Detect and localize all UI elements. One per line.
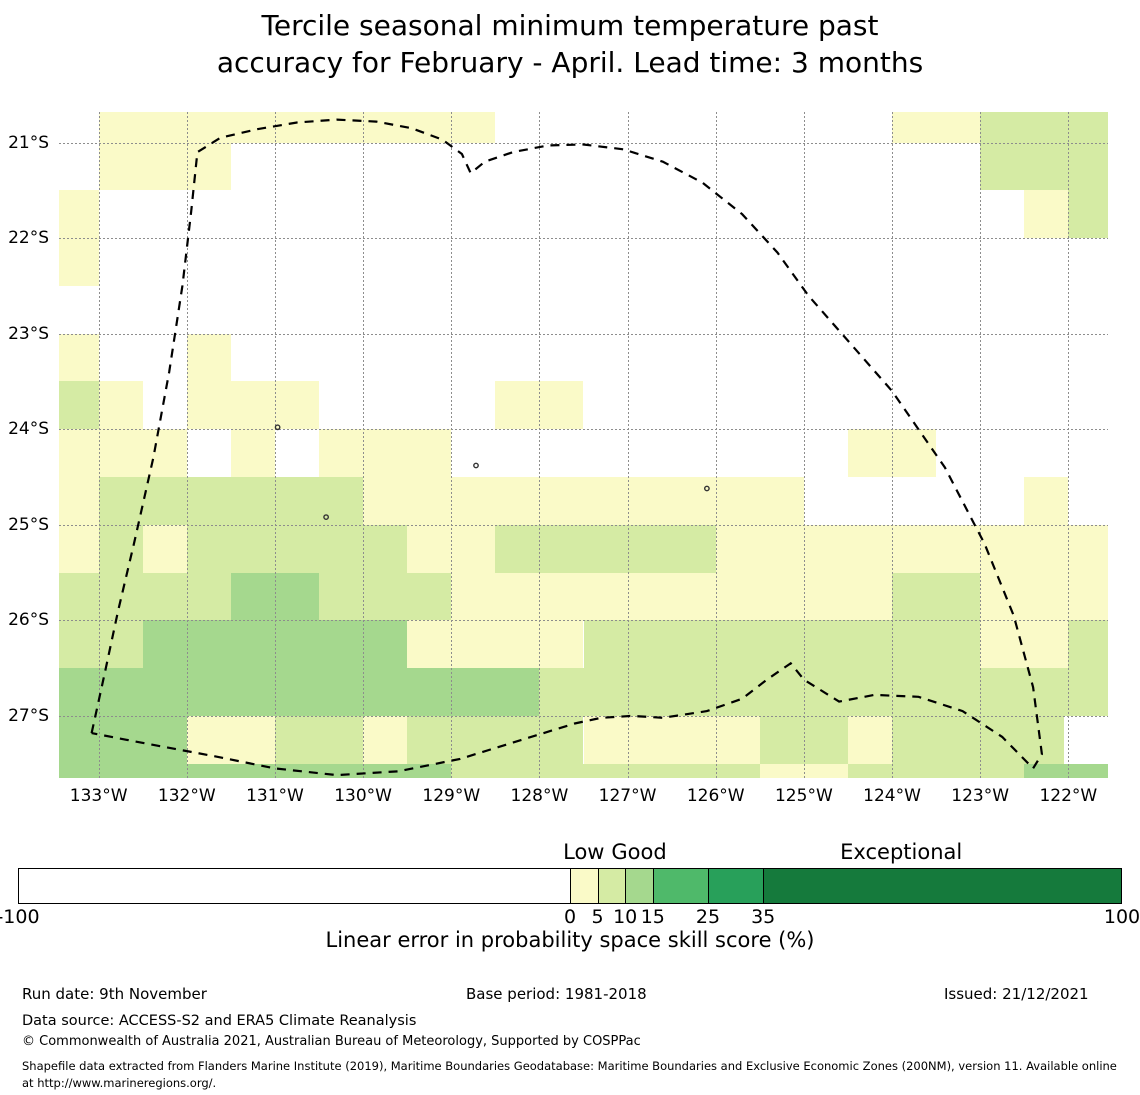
colorbar[interactable] (18, 868, 1122, 904)
longitude-tick-label: 122°W (1039, 786, 1097, 806)
heatmap-cell (804, 668, 936, 716)
heatmap-cell (99, 764, 452, 778)
colorbar-segment (763, 869, 1121, 903)
heatmap-cell (584, 620, 848, 668)
heatmap-cell (59, 381, 99, 429)
colorbar-segment (653, 869, 708, 903)
heatmap-cell (59, 477, 99, 525)
heatmap-cell-layer (59, 112, 1108, 778)
heatmap-cell (99, 573, 143, 621)
heatmap-cell (848, 429, 936, 477)
heatmap-cell (1068, 112, 1108, 143)
heatmap-cell (1024, 477, 1068, 525)
footer-top-row: Run date: 9th November Base period: 1981… (0, 985, 1140, 1008)
heatmap-cell (59, 112, 99, 143)
colorbar-tick-label: 5 (592, 906, 604, 928)
heatmap-cell (980, 525, 1108, 573)
colorbar-tick-label: 35 (751, 906, 775, 928)
issued-date-text: Issued: 21/12/2021 (944, 985, 1089, 1003)
heatmap-cell (319, 381, 495, 429)
shapefile-attribution-text: Shapefile data extracted from Flanders M… (22, 1058, 1122, 1091)
heatmap-cell (187, 716, 275, 764)
colorbar-tick-label: 0 (564, 906, 576, 928)
heatmap-cell (407, 525, 495, 573)
colorbar-axis-title: Linear error in probability space skill … (0, 928, 1140, 952)
heatmap-cell (892, 112, 980, 143)
heatmap-cell (407, 716, 583, 764)
heatmap-cell (1068, 190, 1108, 238)
heatmap-cell (187, 429, 231, 477)
heatmap-cell (892, 573, 980, 621)
heatmap-cell (59, 764, 99, 778)
heatmap-cell (980, 112, 1068, 143)
heatmap-cell (980, 573, 1108, 621)
heatmap-cell (363, 477, 539, 525)
heatmap-cell (451, 764, 495, 778)
heatmap-cell (672, 716, 760, 764)
heatmap-cell (363, 716, 407, 764)
data-source-text: Data source: ACCESS-S2 and ERA5 Climate … (22, 1013, 416, 1029)
heatmap-cell (99, 525, 143, 573)
colorbar-segment (19, 869, 570, 903)
longitude-tick-label: 128°W (511, 786, 569, 806)
longitude-tick-label: 129°W (422, 786, 480, 806)
latitude-tick-label: 22°S (8, 228, 49, 248)
heatmap-cell (59, 716, 99, 764)
heatmap-cell (716, 668, 804, 716)
heatmap-cell (760, 764, 848, 778)
heatmap-cell (59, 334, 99, 382)
heatmap-cell (59, 429, 99, 477)
heatmap-cell (848, 764, 1024, 778)
page-title: Tercile seasonal minimum temperature pas… (0, 8, 1140, 82)
longitude-tick-label: 131°W (246, 786, 304, 806)
heatmap-cell (936, 716, 1064, 764)
heatmap-cell (275, 429, 319, 477)
colorbar-category-label: Exceptional (840, 840, 962, 864)
longitude-tick-label: 132°W (158, 786, 216, 806)
heatmap-cell (143, 381, 187, 429)
latitude-tick-label: 26°S (8, 610, 49, 630)
heatmap-cell (1024, 668, 1108, 716)
heatmap-cell (319, 429, 451, 477)
heatmap-cell (1068, 477, 1108, 525)
heatmap-cell (1024, 764, 1108, 778)
colorbar-segment (598, 869, 626, 903)
heatmap-cell (59, 620, 99, 668)
heatmap-cell (143, 143, 231, 191)
heatmap-cell (99, 286, 1108, 334)
colorbar-category-label: Low (563, 840, 604, 864)
heatmap-cell (716, 477, 804, 525)
heatmap-cell (231, 334, 1108, 382)
heatmap-cell (99, 334, 187, 382)
heatmap-cell (99, 112, 496, 143)
heatmap-cell (99, 429, 187, 477)
heatmap-cell (59, 573, 99, 621)
heatmap-cell (804, 477, 1024, 525)
longitude-tick-label: 123°W (951, 786, 1009, 806)
heatmap-cell (187, 381, 319, 429)
heatmap-cell (539, 477, 715, 525)
heatmap-cell (672, 573, 892, 621)
longitude-tick-label: 124°W (863, 786, 921, 806)
heatmap-cell (143, 573, 231, 621)
heatmap-cell (936, 668, 1024, 716)
heatmap-cell (99, 381, 143, 429)
heatmap-cell (59, 286, 99, 334)
heatmap-cell (495, 764, 759, 778)
colorbar-gradient (18, 868, 1122, 904)
heatmap-cell (451, 429, 848, 477)
footer: Run date: 9th November Base period: 1981… (0, 985, 1140, 1008)
colorbar-tick-label: -100 (0, 906, 40, 928)
heatmap-cell (59, 238, 99, 286)
colorbar-tick-label: 15 (641, 906, 665, 928)
longitude-tick-label: 133°W (70, 786, 128, 806)
heatmap-cell (231, 573, 319, 621)
heatmap-cell (848, 716, 892, 764)
heatmap-cell (59, 190, 99, 238)
latitude-tick-label: 25°S (8, 515, 49, 535)
longitude-tick-label: 125°W (775, 786, 833, 806)
heatmap-cell (231, 429, 275, 477)
heatmap-cell (584, 716, 672, 764)
heatmap-cell (1024, 190, 1068, 238)
colorbar-tick-label: 10 (613, 906, 637, 928)
heatmap-cell (1068, 620, 1108, 668)
heatmap-cell (451, 573, 671, 621)
latitude-tick-label: 24°S (8, 419, 49, 439)
heatmap-cell (187, 334, 231, 382)
colorbar-segment (570, 869, 598, 903)
heatmap-cell (980, 143, 1108, 191)
heatmap-cell (495, 381, 583, 429)
heatmap-cell (231, 143, 980, 191)
colorbar-segment (625, 869, 653, 903)
heatmap-cell (584, 381, 1109, 429)
heatmap-cell (99, 620, 143, 668)
latitude-tick-label: 27°S (8, 706, 49, 726)
heatmap-cell (275, 716, 363, 764)
heatmap-cell (143, 525, 187, 573)
colorbar-tick-label: 25 (696, 906, 720, 928)
heatmap-cell (99, 143, 143, 191)
heatmap-cell (99, 716, 187, 764)
heatmap-cell (495, 525, 715, 573)
heatmap-cell (59, 525, 99, 573)
heatmap-cell (892, 716, 936, 764)
heatmap-cell (716, 525, 980, 573)
heatmap-cell (760, 716, 848, 764)
heatmap-cell (407, 620, 583, 668)
heatmap-cell (539, 668, 715, 716)
copyright-text: © Commonwealth of Australia 2021, Austra… (22, 1034, 641, 1049)
heatmap-cell (319, 573, 451, 621)
heatmap-cell (99, 668, 408, 716)
heatmap-cell (980, 620, 1068, 668)
heatmap-cell (99, 190, 1025, 238)
heatmap-cell (407, 668, 539, 716)
map-plot-area[interactable] (59, 112, 1108, 778)
heatmap-cell (59, 668, 99, 716)
run-date-text: Run date: 9th November (22, 985, 207, 1003)
colorbar-category-label: Good (611, 840, 666, 864)
heatmap-cell (59, 143, 99, 191)
heatmap-cell (187, 525, 407, 573)
heatmap-cell (936, 429, 1108, 477)
latitude-tick-label: 23°S (8, 324, 49, 344)
longitude-tick-label: 130°W (334, 786, 392, 806)
latitude-tick-label: 21°S (8, 133, 49, 153)
colorbar-tick-label: 100 (1104, 906, 1140, 928)
heatmap-cell (143, 477, 363, 525)
heatmap-cell (143, 620, 407, 668)
base-period-text: Base period: 1981-2018 (466, 985, 647, 1003)
heatmap-cell (848, 620, 980, 668)
longitude-tick-label: 126°W (687, 786, 745, 806)
colorbar-segment (708, 869, 763, 903)
longitude-tick-label: 127°W (599, 786, 657, 806)
heatmap-cell (99, 477, 143, 525)
heatmap-cell (99, 238, 1108, 286)
